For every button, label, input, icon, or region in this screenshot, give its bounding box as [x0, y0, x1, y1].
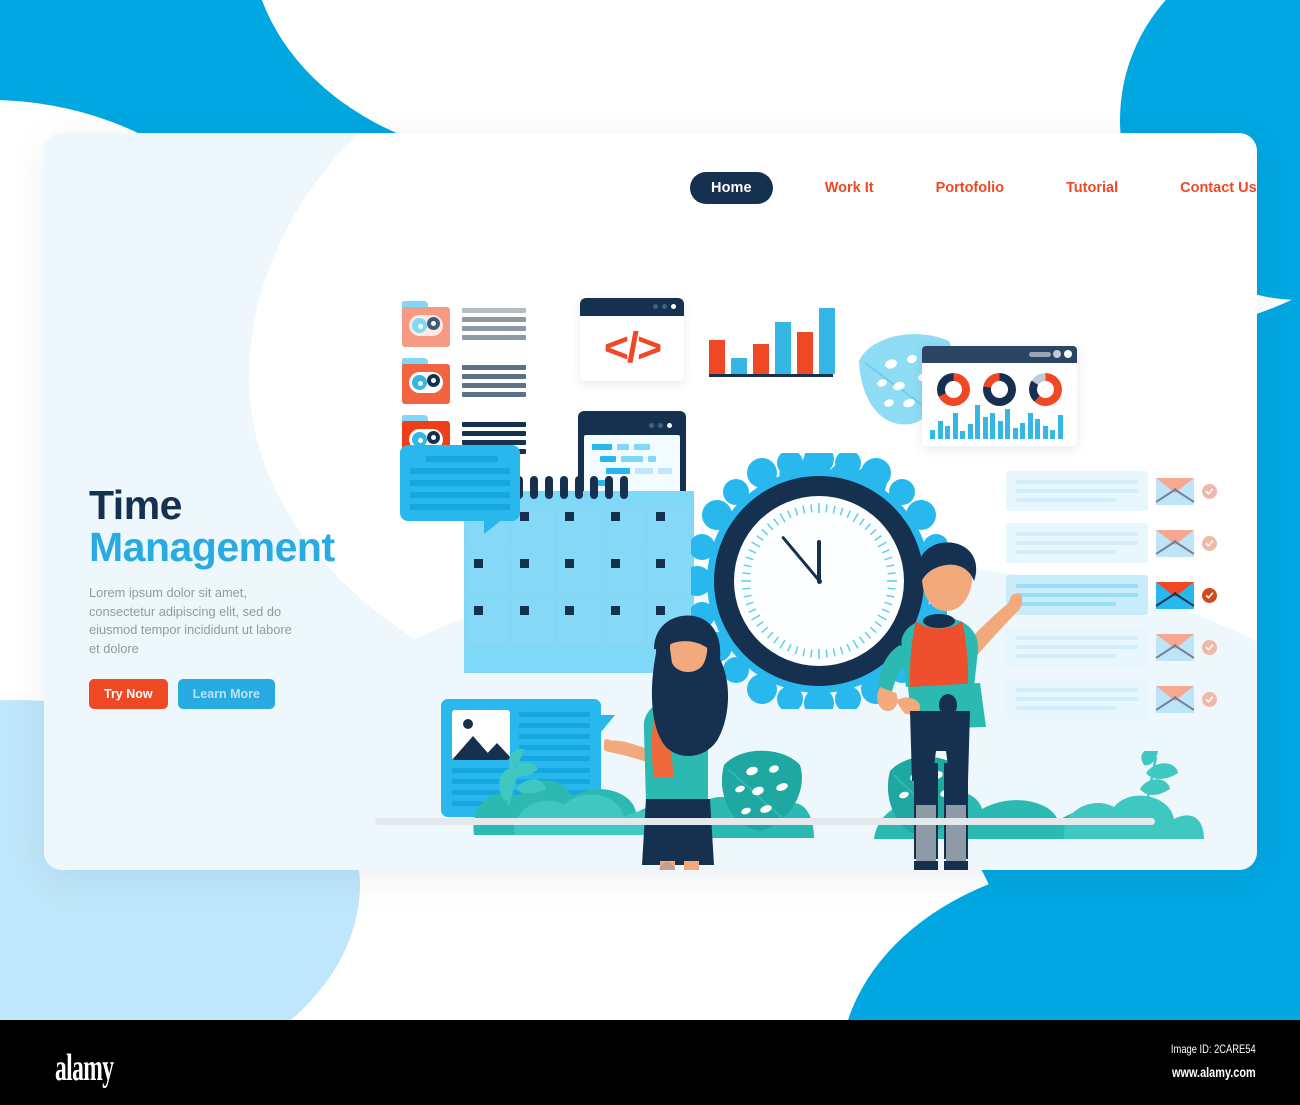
window-titlebar: [584, 417, 680, 435]
email-list: [1006, 471, 1217, 719]
chat-bubble-tail: [484, 518, 504, 534]
footer-meta: Image ID: 2CARE54 www.alamy.com: [1147, 1042, 1256, 1080]
nav-item-work-it[interactable]: Work It: [825, 180, 874, 196]
person-man-illustration: [862, 505, 1022, 870]
alamy-logo: alamy: [55, 1046, 113, 1090]
email-list-item[interactable]: [1006, 627, 1217, 667]
mini-bar-chart: [922, 412, 1077, 446]
email-list-item[interactable]: [1006, 471, 1217, 511]
hero-button-group: Try Now Learn More: [89, 679, 389, 709]
check-circle-icon[interactable]: [1202, 692, 1217, 707]
donut-chart-2: [983, 373, 1016, 406]
calendar-day-cell[interactable]: [466, 600, 510, 645]
page-title-line-2: Management: [89, 527, 389, 567]
calendar-day-cell[interactable]: [557, 553, 601, 598]
envelope-icon: [1156, 686, 1194, 713]
page-title: Time Management: [89, 485, 389, 567]
calendar-day-cell[interactable]: [557, 600, 601, 645]
envelope-icon: [1156, 582, 1194, 609]
clock-pivot: [817, 579, 822, 584]
email-list-item[interactable]: [1006, 679, 1217, 719]
donut-chart-group: [922, 363, 1077, 412]
alamy-footer-bar: alamy Image ID: 2CARE54 www.alamy.com: [0, 1020, 1300, 1105]
nav-item-portofolio[interactable]: Portofolio: [936, 180, 1004, 196]
calendar-day-cell[interactable]: [466, 553, 510, 598]
envelope-icon: [1156, 478, 1194, 505]
check-circle-icon[interactable]: [1202, 536, 1217, 551]
donut-chart-1: [937, 373, 970, 406]
check-circle-icon[interactable]: [1202, 484, 1217, 499]
email-text-card: [1006, 575, 1148, 615]
bar-chart-axis: [709, 374, 833, 377]
dashboard-titlebar: [922, 346, 1077, 363]
folder-gear-icon: [402, 358, 450, 404]
nav-item-tutorial[interactable]: Tutorial: [1066, 180, 1118, 196]
window-titlebar: [580, 298, 684, 316]
hero-section: Time Management Lorem ipsum dolor sit am…: [89, 485, 389, 709]
hero-paragraph: Lorem ipsum dolor sit amet, consectetur …: [89, 584, 304, 658]
learn-more-button[interactable]: Learn More: [178, 679, 275, 709]
bar-chart-bars: [709, 308, 835, 374]
footer-url: www.alamy.com: [1171, 1064, 1256, 1080]
calendar-day-cell[interactable]: [648, 506, 692, 551]
donut-chart-3: [1029, 373, 1062, 406]
main-navigation: Home Work It Portofolio Tutorial Contact…: [690, 172, 1257, 204]
folder-gear-icon: [402, 301, 450, 347]
folder-list-item[interactable]: [402, 358, 526, 404]
nav-item-contact-us[interactable]: Contact Us: [1180, 180, 1257, 196]
email-list-item[interactable]: [1006, 523, 1217, 563]
footer-image-id: Image ID: 2CARE54: [1171, 1042, 1256, 1056]
folder-list-item[interactable]: [402, 301, 526, 347]
bar-chart: [709, 308, 835, 377]
nav-item-home[interactable]: Home: [690, 172, 773, 204]
folder-text-lines: [462, 365, 526, 397]
chat-bubble[interactable]: [400, 445, 520, 521]
analytics-dashboard-panel[interactable]: [922, 346, 1077, 446]
calendar-day-cell[interactable]: [512, 553, 556, 598]
try-now-button[interactable]: Try Now: [89, 679, 168, 709]
folder-text-lines: [462, 308, 526, 340]
screenshot-root: </>: [0, 0, 1300, 1105]
envelope-icon: [1156, 530, 1194, 557]
page-title-line-1: Time: [89, 485, 389, 525]
email-text-card: [1006, 679, 1148, 719]
calendar-day-cell[interactable]: [603, 506, 647, 551]
envelope-icon: [1156, 634, 1194, 661]
email-text-card: [1006, 523, 1148, 563]
check-circle-icon[interactable]: [1202, 640, 1217, 655]
email-list-item-active[interactable]: [1006, 575, 1217, 615]
calendar-day-cell[interactable]: [557, 506, 601, 551]
check-circle-icon[interactable]: [1202, 588, 1217, 603]
calendar-day-cell[interactable]: [512, 600, 556, 645]
email-text-card: [1006, 471, 1148, 511]
email-text-card: [1006, 627, 1148, 667]
code-tag-icon: </>: [604, 324, 660, 373]
ground-line: [375, 818, 1155, 825]
code-browser-window[interactable]: </>: [580, 298, 684, 381]
